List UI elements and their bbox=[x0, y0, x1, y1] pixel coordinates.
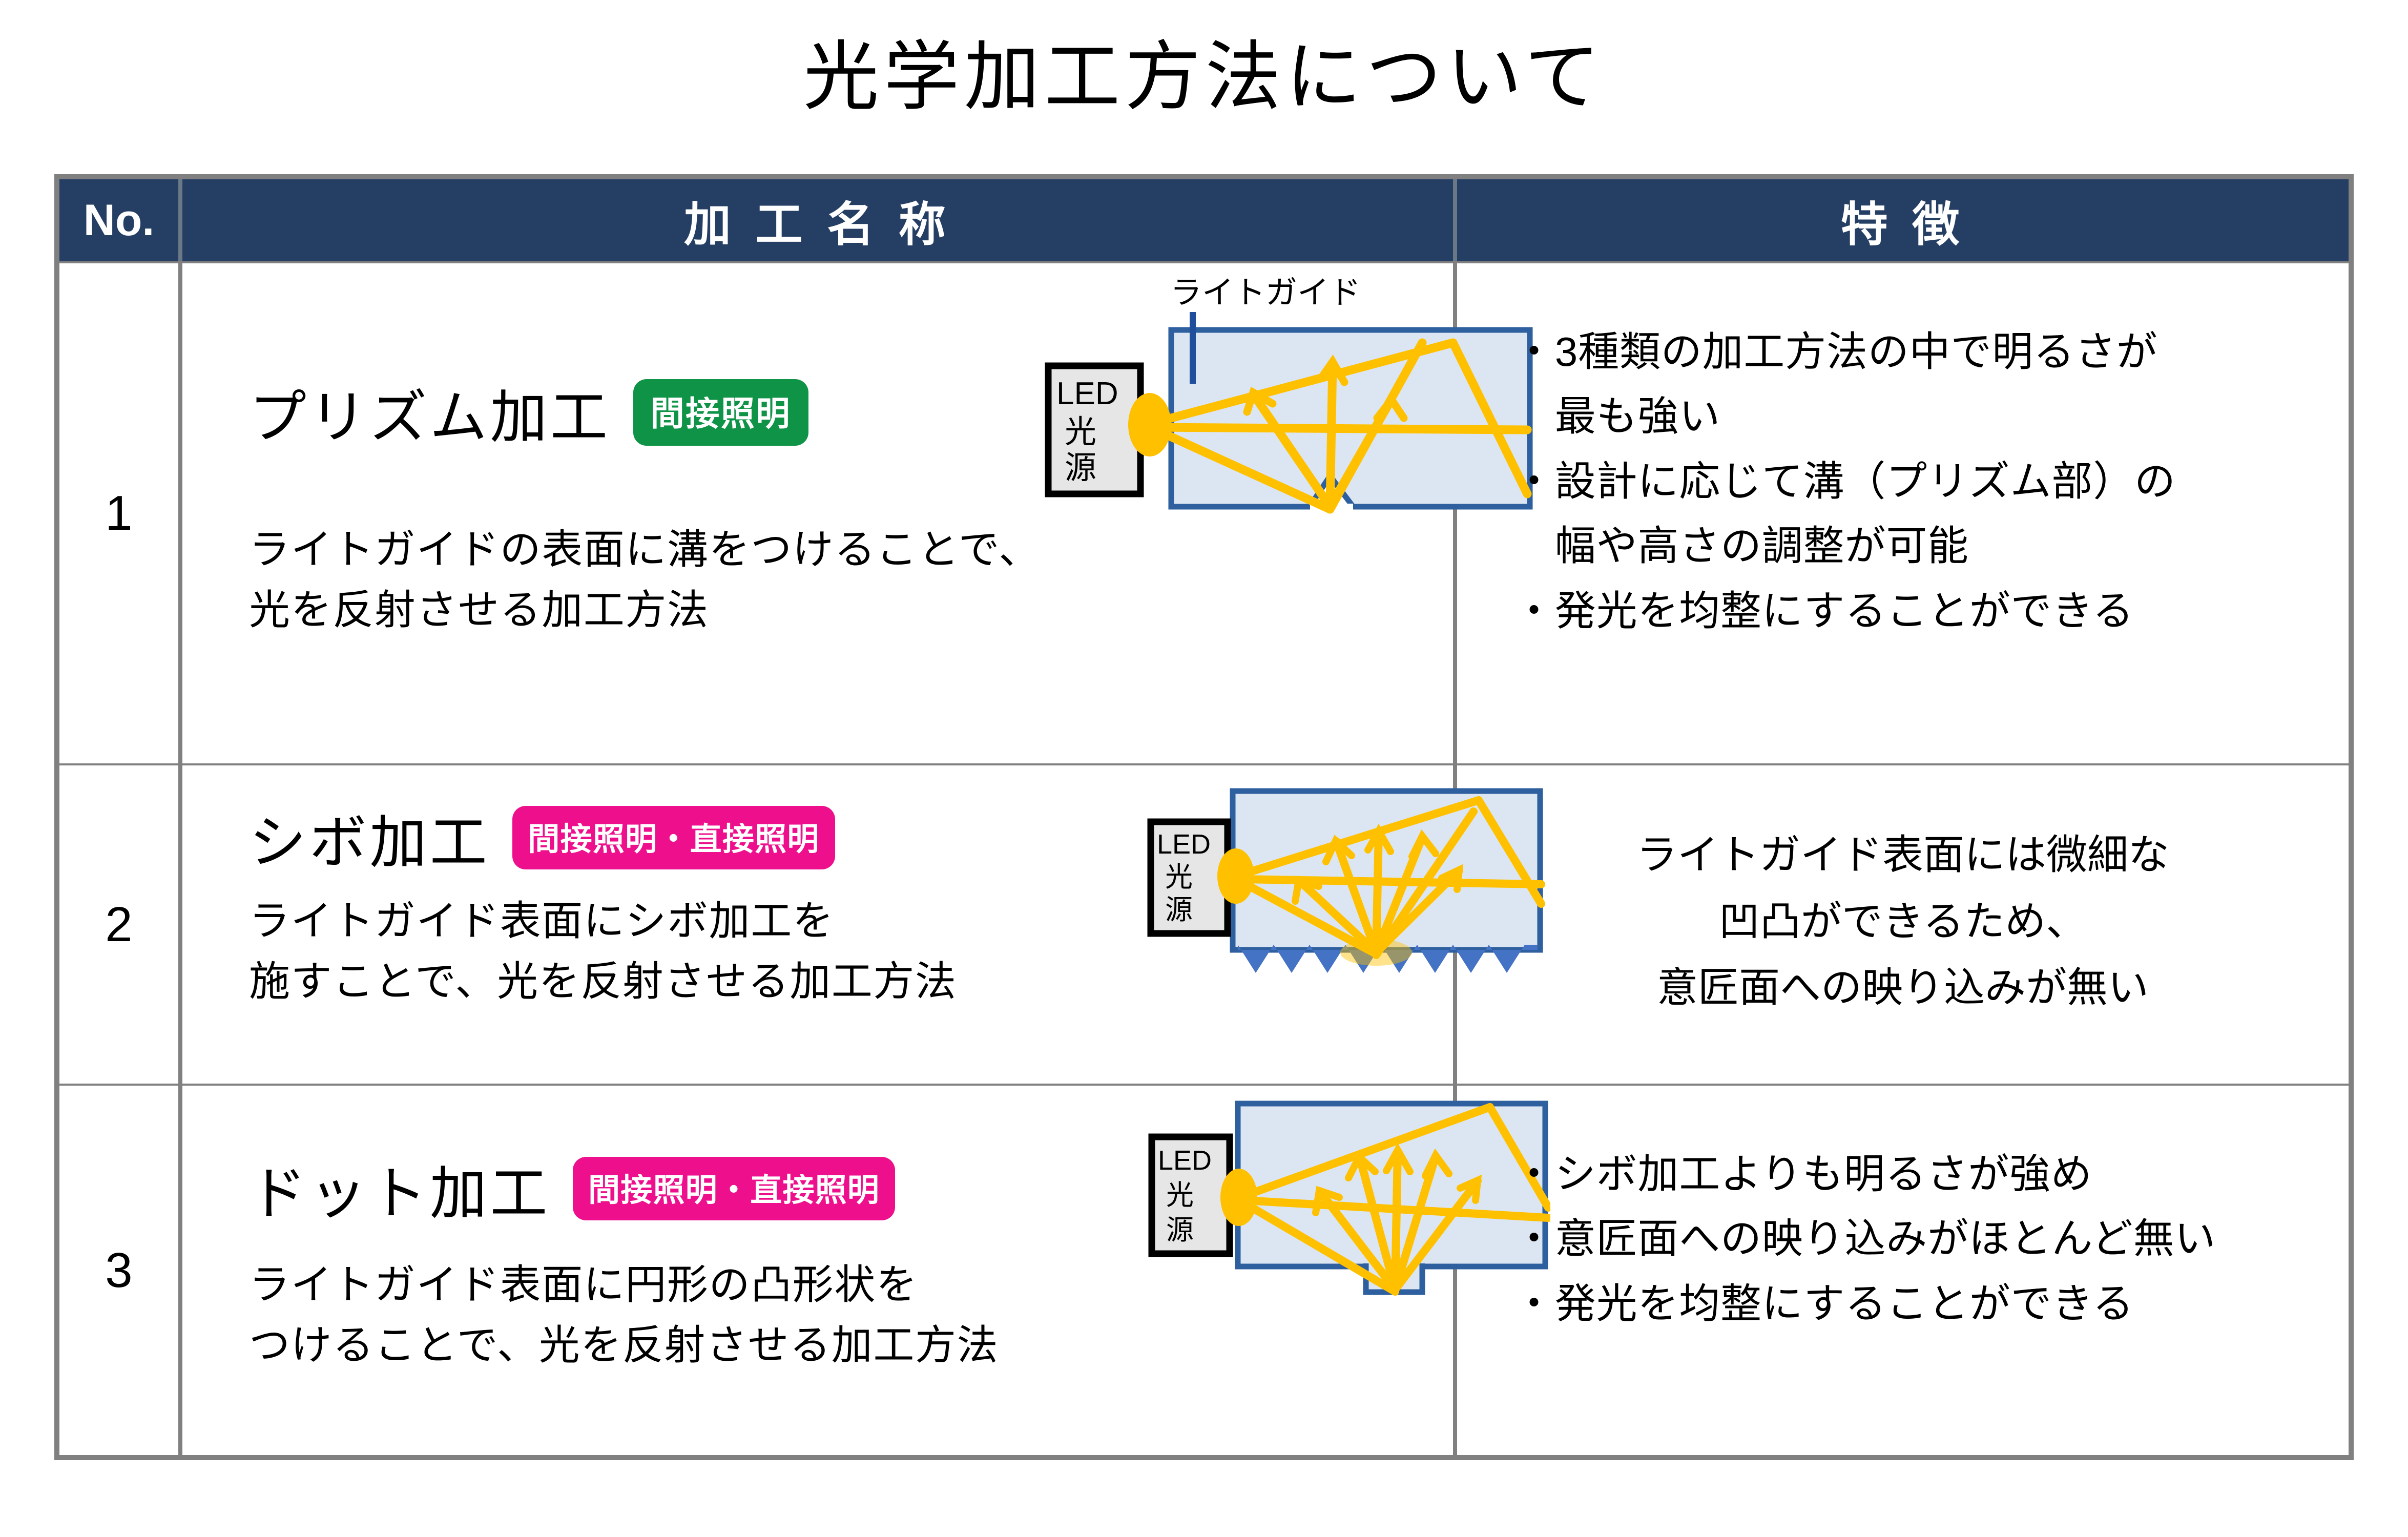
led-label-jp-1: 光 bbox=[1065, 414, 1096, 450]
illumination-badge: 間接照明・直接照明 bbox=[512, 806, 835, 869]
process-description: ライトガイド表面に円形の凸形状を つけることで、光を反射させる加工方法 bbox=[249, 1255, 999, 1376]
led-label-en: LED bbox=[1056, 376, 1118, 411]
process-description: ライトガイド表面にシボ加工を 施すことで、光を反射させる加工方法 bbox=[249, 891, 957, 1012]
illumination-badge: 間接照明・直接照明 bbox=[573, 1157, 895, 1220]
process-name-cell: シボ加工 間接照明・直接照明 ライトガイド表面にシボ加工を 施すことで、光を反射… bbox=[182, 765, 1457, 1084]
header-cell-feature: 特 徴 bbox=[1457, 179, 2349, 261]
process-name: シボ加工 bbox=[249, 796, 490, 879]
header-cell-no: No. bbox=[59, 179, 182, 261]
process-title-group: シボ加工 間接照明・直接照明 bbox=[249, 796, 835, 879]
process-description: ライトガイドの表面に溝をつけることで、 光を反射させる加工方法 bbox=[249, 520, 1041, 641]
led-label-en: LED bbox=[1157, 829, 1211, 860]
feature-text: ・3種類の加工方法の中で明るさが 最も強い ・設計に応じて溝（プリズム部）の 幅… bbox=[1513, 320, 2176, 643]
light-guide-label: ライトガイド bbox=[1170, 275, 1361, 310]
table-row: 1 プリズム加工 間接照明 ライトガイドの表面に溝をつけることで、 光を反射させ… bbox=[59, 261, 2349, 763]
row-number: 3 bbox=[105, 1242, 132, 1299]
process-name-cell: プリズム加工 間接照明 ライトガイドの表面に溝をつけることで、 光を反射させる加… bbox=[182, 263, 1457, 763]
page-title: 光学加工方法について bbox=[0, 36, 2408, 119]
optical-process-table: No. 加 工 名 称 特 徴 1 プリズム加工 間接照明 ライトガイドの表面に… bbox=[54, 174, 2354, 1460]
led-label-jp-2: 源 bbox=[1166, 1215, 1194, 1245]
row-number: 1 bbox=[105, 485, 132, 542]
led-label-en: LED bbox=[1158, 1145, 1212, 1176]
process-name-cell: ドット加工 間接照明・直接照明 ライトガイド表面に円形の凸形状を つけることで、… bbox=[182, 1086, 1457, 1455]
led-label-jp-1: 光 bbox=[1166, 1180, 1194, 1211]
feature-cell: ・シボ加工よりも明るさが強め ・意匠面への映り込みがほとんど無い ・発光を均整に… bbox=[1457, 1086, 2349, 1455]
slide-page: 光学加工方法について No. 加 工 名 称 特 徴 1 プリズム加工 間接照明… bbox=[0, 0, 2408, 1537]
process-name: プリズム加工 bbox=[249, 371, 611, 454]
led-label-jp-2: 源 bbox=[1165, 895, 1193, 925]
feature-list: ・3種類の加工方法の中で明るさが 最も強い ・設計に応じて溝（プリズム部）の 幅… bbox=[1513, 320, 2176, 643]
process-title-group: プリズム加工 間接照明 bbox=[249, 371, 808, 454]
scatter-glow bbox=[1340, 939, 1412, 966]
led-label-jp-1: 光 bbox=[1165, 862, 1193, 892]
feature-text: ・シボ加工よりも明るさが強め ・意匠面への映り込みがほとんど無い ・発光を均整に… bbox=[1513, 1142, 2216, 1336]
feature-cell: ・3種類の加工方法の中で明るさが 最も強い ・設計に応じて溝（プリズム部）の 幅… bbox=[1457, 263, 2349, 763]
row-number-cell: 3 bbox=[59, 1086, 182, 1455]
process-name: ドット加工 bbox=[249, 1147, 550, 1230]
row-number-cell: 2 bbox=[59, 765, 182, 1084]
led-label-jp-2: 源 bbox=[1065, 450, 1096, 486]
feature-list: ・シボ加工よりも明るさが強め ・意匠面への映り込みがほとんど無い ・発光を均整に… bbox=[1513, 1142, 2216, 1336]
table-header-row: No. 加 工 名 称 特 徴 bbox=[59, 179, 2349, 261]
feature-cell: ライトガイド表面には微細な 凹凸ができるため、 意匠面への映り込みが無い bbox=[1457, 765, 2349, 1084]
table-row: 3 ドット加工 間接照明・直接照明 ライトガイド表面に円形の凸形状を つけること… bbox=[59, 1084, 2349, 1455]
table-row: 2 シボ加工 間接照明・直接照明 ライトガイド表面にシボ加工を 施すことで、光を… bbox=[59, 763, 2349, 1084]
process-title-group: ドット加工 間接照明・直接照明 bbox=[249, 1147, 895, 1230]
row-number-cell: 1 bbox=[59, 263, 182, 763]
header-cell-name: 加 工 名 称 bbox=[182, 179, 1457, 261]
feature-text: ライトガイド表面には微細な 凹凸ができるため、 意匠面への映り込みが無い bbox=[1457, 822, 2349, 1021]
row-number: 2 bbox=[105, 897, 132, 953]
illumination-badge: 間接照明 bbox=[633, 379, 809, 446]
